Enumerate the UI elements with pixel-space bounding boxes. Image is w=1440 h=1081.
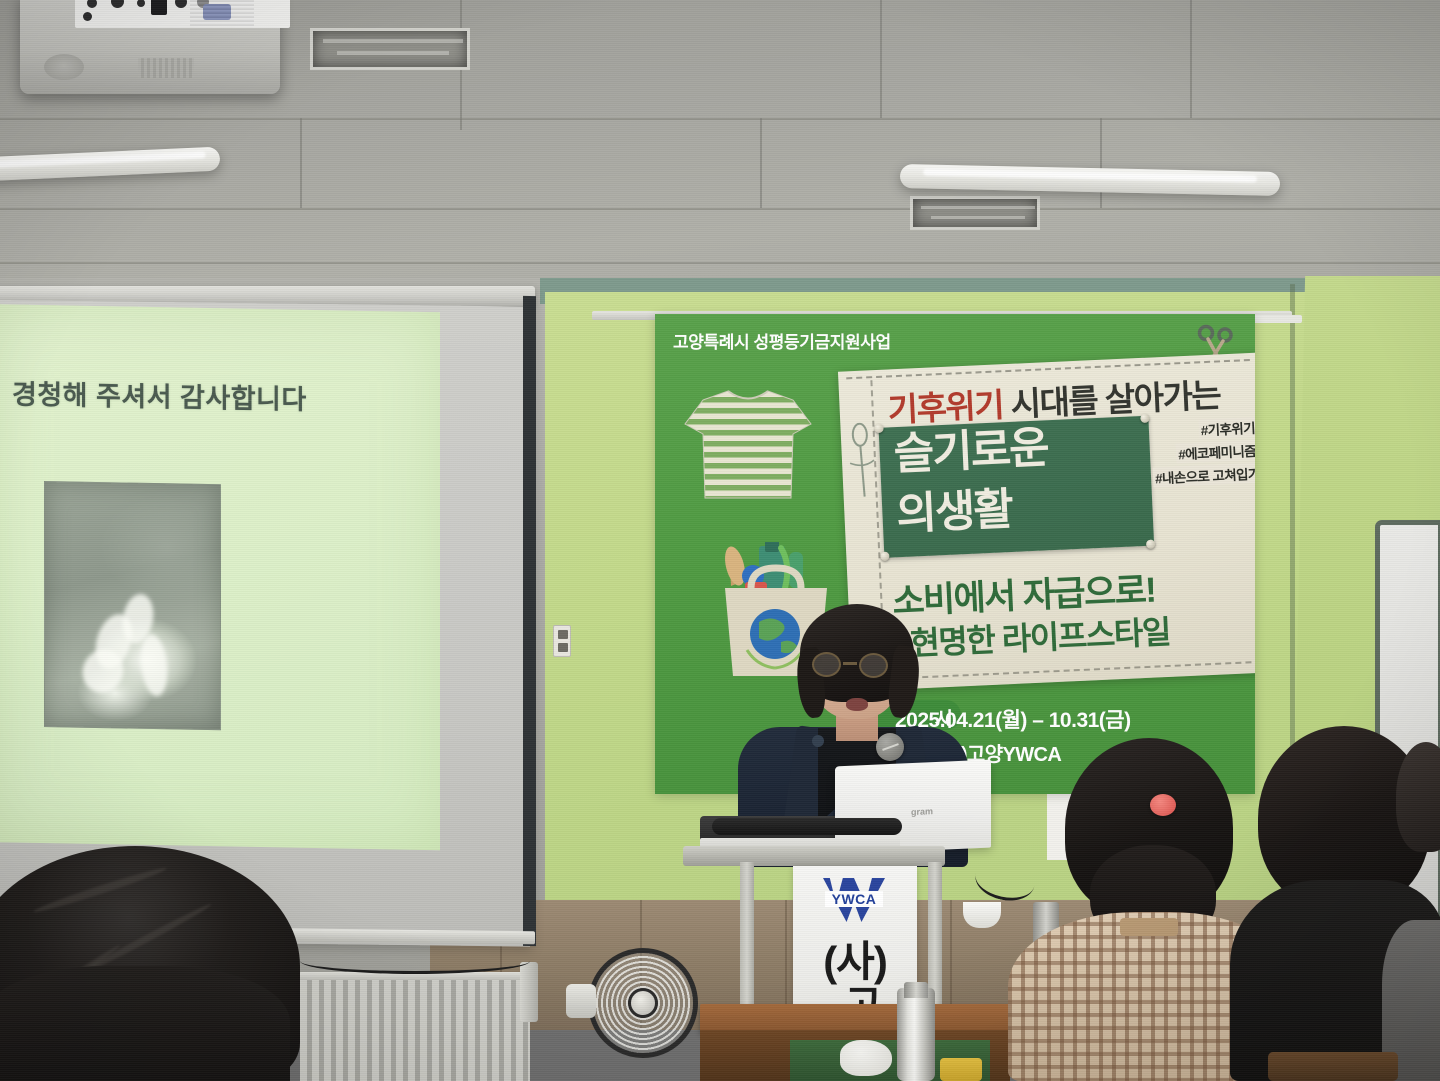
pink-hair-scrunchie xyxy=(1150,794,1176,816)
pin-bottom-left xyxy=(880,552,889,561)
projector-vent xyxy=(138,58,194,78)
banner-hashtags: #기후위기 #에코페미니즘 #내손으로 고쳐입기 xyxy=(1151,417,1255,491)
slide-title: 경청해 주셔서 감사합니다 xyxy=(12,372,307,416)
banner-green-plate: 슬기로운 의생활 xyxy=(879,416,1155,558)
podium-sign-line-1: (사) xyxy=(793,928,917,989)
ceiling-air-vent-right xyxy=(910,196,1040,230)
tshirt-illustration xyxy=(673,386,823,506)
projector-port-plate xyxy=(75,0,290,28)
radiator-valve xyxy=(520,962,538,1022)
headline-dark-part: 시대를 살아가는 xyxy=(1002,376,1221,423)
hashtag-2: #내손으로 고쳐입기 xyxy=(1153,463,1255,488)
wall-radiator xyxy=(300,980,530,1081)
water-bottle-cap xyxy=(904,982,928,998)
laptop-brand-label: gram xyxy=(911,806,933,817)
plate-line-1: 슬기로운 xyxy=(893,426,1049,477)
audience-center-collar xyxy=(1120,918,1178,936)
hashtag-1: #에코페미니즘 xyxy=(1176,440,1255,464)
speaker-eyeglasses xyxy=(812,652,900,678)
chair-back xyxy=(1268,1052,1398,1081)
wall-power-outlet[interactable] xyxy=(553,625,571,657)
banner-program-line: 고양특례시 성평등기금지원사업 xyxy=(673,328,891,353)
ceiling-air-vent-left xyxy=(310,28,470,70)
needle-and-thread-icon xyxy=(842,422,880,503)
projection-screen-edge xyxy=(523,296,536,946)
slide-hands-photo xyxy=(44,481,221,730)
water-bottle xyxy=(897,988,935,1081)
lecture-hall-photo: 경청해 주셔서 감사합니다 고양특례시 성평등기금지원사업 xyxy=(0,0,1440,1081)
event-banner: 고양특례시 성평등기금지원사업 xyxy=(655,314,1255,794)
wooden-table-top xyxy=(700,1004,1010,1032)
podium-ywca-logo-text: YWCA xyxy=(825,891,883,907)
projected-slide: 경청해 주셔서 감사합니다 xyxy=(0,304,440,850)
ceiling-projector xyxy=(20,0,280,94)
hashtag-0: #기후위기 xyxy=(1198,417,1255,440)
podium-grip-bar xyxy=(712,818,902,835)
podium-top xyxy=(683,846,945,866)
pin-bottom-right xyxy=(1146,539,1155,548)
plate-line-2: 의생활 xyxy=(896,488,1013,537)
clip-microphone xyxy=(876,733,904,761)
speaker-badge xyxy=(812,735,824,747)
wall-rail-right xyxy=(1250,315,1302,323)
power-cable xyxy=(300,948,530,974)
projector-lens xyxy=(44,54,84,80)
paper-cup xyxy=(963,902,1001,928)
standing-fan[interactable] xyxy=(588,948,698,1058)
yellow-object-on-table xyxy=(940,1058,982,1081)
fan-motor xyxy=(566,984,596,1018)
fan-hub xyxy=(628,988,658,1018)
speaker-mouth xyxy=(846,698,868,711)
projector-label xyxy=(190,0,254,26)
crumpled-tissue xyxy=(840,1040,892,1076)
podium-ywca-logo: YWCA xyxy=(823,878,885,922)
